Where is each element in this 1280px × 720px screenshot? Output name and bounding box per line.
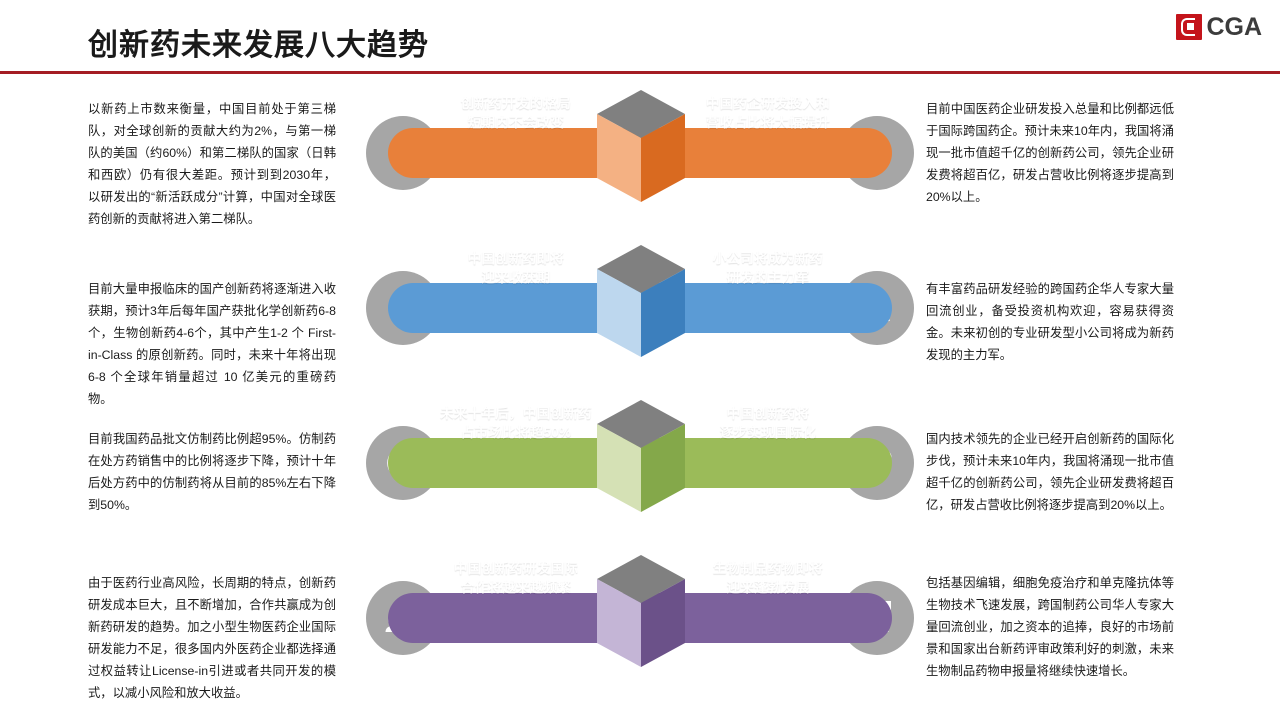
trend-label-right-line1-1: 中国药企研发投入和 [706, 94, 830, 113]
trend-label-right-line2-1: 营收占比将大幅提升 [706, 113, 830, 132]
trend-label-left-line2-3: 占市场比将超50% [461, 423, 572, 442]
trend-label-left-line2-1: 短期内不会改变 [468, 113, 565, 132]
cube-graphic-1 [595, 88, 687, 218]
header-divider [0, 71, 1280, 74]
cube-graphic-3 [595, 398, 687, 528]
trend-label-left-line1-4: 中国创新药研发国际 [454, 559, 578, 578]
page-title: 创新药未来发展八大趋势 [88, 20, 429, 64]
trend-label-right-line1-2: 小公司将成为新药 [713, 249, 823, 268]
cube-graphic-4 [595, 553, 687, 683]
body-text-left-4: 由于医药行业高风险，长周期的特点，创新药研发成本巨大，且不断增加，合作共赢成为创… [88, 572, 336, 704]
body-text-left-2: 目前大量申报临床的国产创新药将逐渐进入收获期，预计3年后每年国产获批化学创新药6… [88, 278, 336, 410]
brand-logo: CGA [1176, 14, 1262, 40]
body-text-right-4: 包括基因编辑，细胞免疫治疗和单克隆抗体等生物技术飞速发展，跨国制药公司华人专家大… [926, 572, 1174, 682]
trend-label-left-line1-1: 创新药开发的格局 [461, 94, 571, 113]
trend-label-right-line2-3: 逐步实现国际化 [720, 423, 817, 442]
body-text-right-2: 有丰富药品研发经验的跨国药企华人专家大量回流创业，备受投资机构欢迎，容易获得资金… [926, 278, 1174, 366]
trend-row-3: 未来十年后，中国创新药占市场比将超50%中国创新药将逐步实现国际化 [366, 398, 914, 528]
page-header: 创新药未来发展八大趋势 CGA [0, 0, 1280, 72]
body-text-right-1: 目前中国医药企业研发投入总量和比例都远低于国际跨国药企。预计未来10年内，我国将… [926, 98, 1174, 208]
body-text-left-3: 目前我国药品批文仿制药比例超95%。仿制药在处方药销售中的比例将逐步下降，预计十… [88, 428, 336, 516]
body-text-right-3: 国内技术领先的企业已经开启创新药的国际化步伐，预计未来10年内，我国将涌现一批市… [926, 428, 1174, 516]
trend-row-1: $创新药开发的格局短期内不会改变中国药企研发投入和营收占比将大幅提升 [366, 88, 914, 218]
trend-label-right-line2-2: 研发的主力军 [727, 268, 810, 287]
body-text-left-1: 以新药上市数来衡量，中国目前处于第三梯队，对全球创新的贡献大约为2%，与第一梯队… [88, 98, 336, 230]
trend-label-left-line1-2: 中国创新药即将 [468, 249, 565, 268]
cga-logo-icon [1176, 14, 1202, 40]
trend-label-right-line1-3: 中国创新药将 [727, 404, 810, 423]
trend-label-left-line1-3: 未来十年后，中国创新药 [440, 404, 592, 423]
cube-graphic-2 [595, 243, 687, 373]
trend-label-right-line1-4: 生物制品药物即将 [713, 559, 823, 578]
trend-row-4: 中国创新药研发国际合作将越来越频繁生物制品药物即将迎来蓬勃发展 [366, 553, 914, 683]
trend-row-2: 中国创新药即将迎来收获期小公司将成为新药研发的主力军 [366, 243, 914, 373]
brand-logo-text: CGA [1206, 14, 1262, 40]
trend-label-left-line2-2: 迎来收获期 [482, 268, 551, 287]
trend-label-right-line2-4: 迎来蓬勃发展 [727, 578, 810, 597]
trend-label-left-line2-4: 合作将越来越频繁 [461, 578, 571, 597]
